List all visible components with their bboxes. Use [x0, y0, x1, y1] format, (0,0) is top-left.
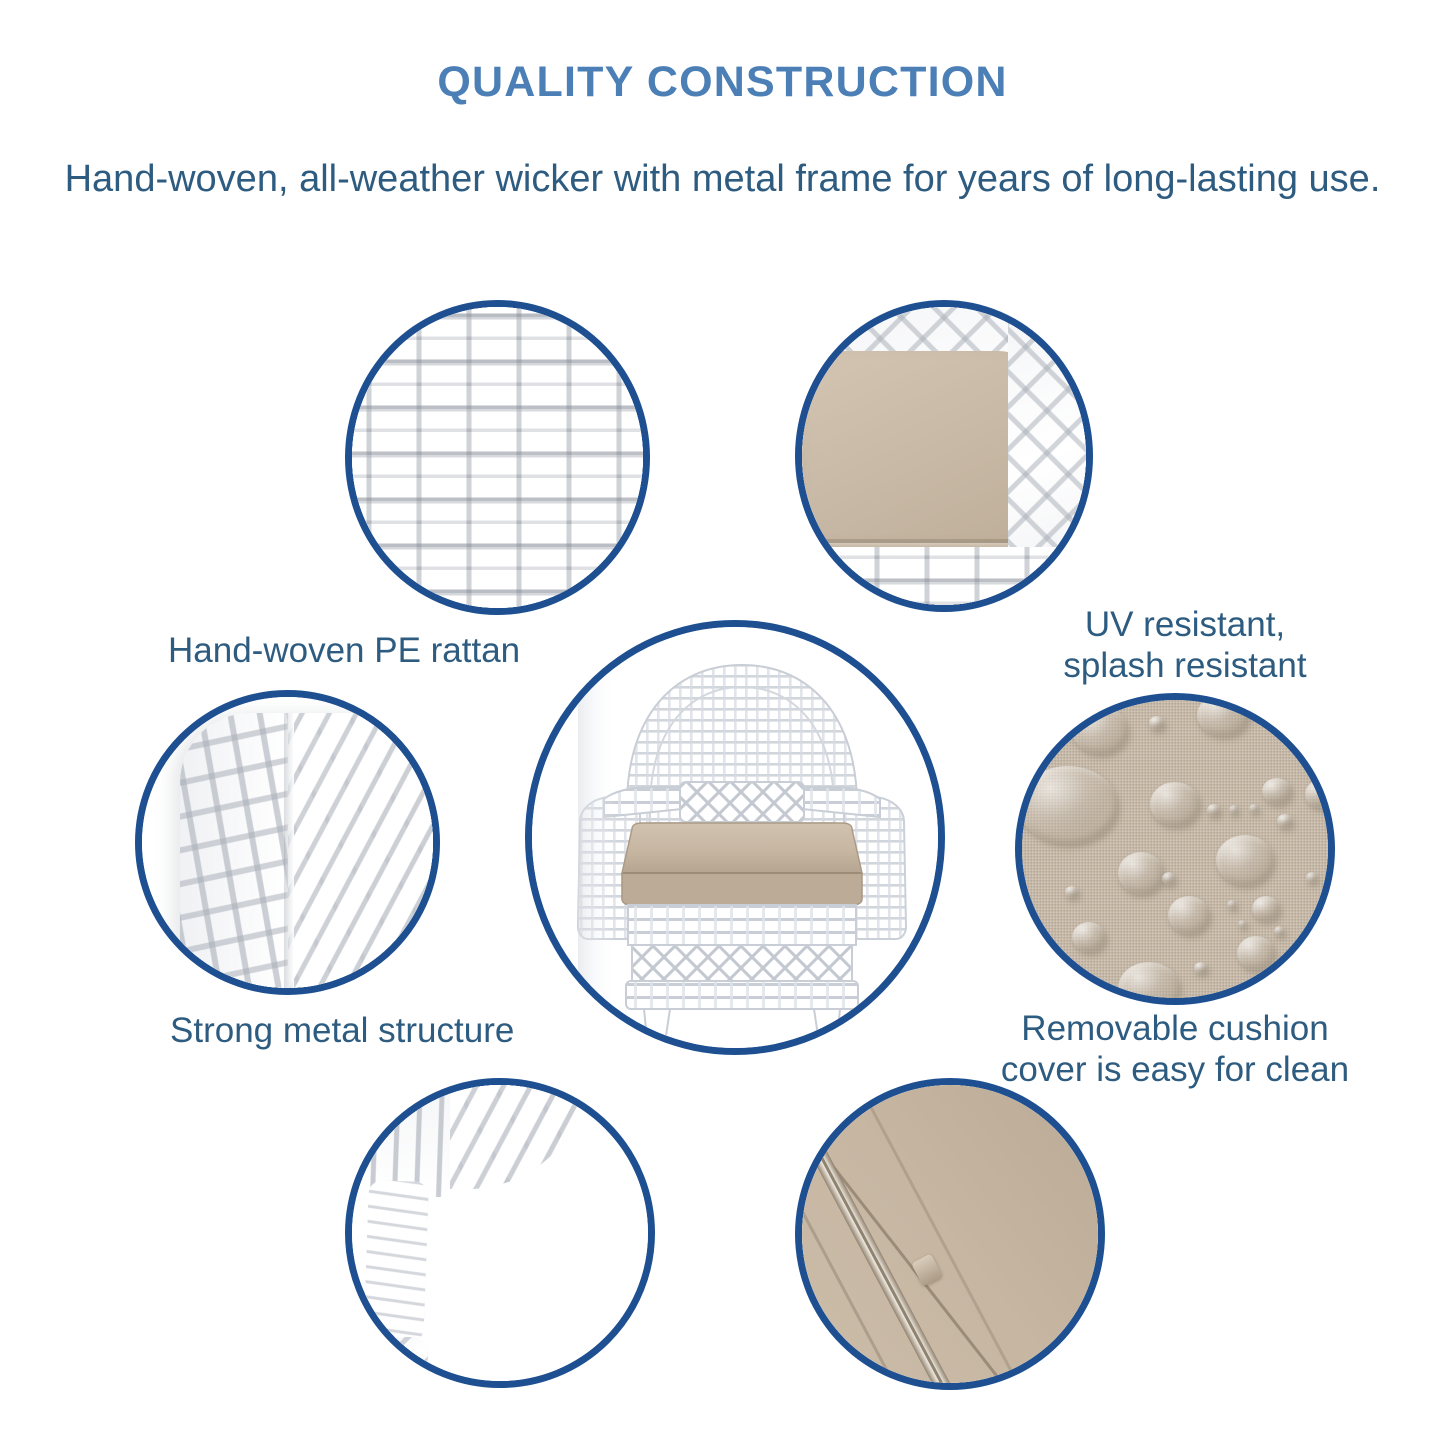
water-repellent-fabric [1015, 693, 1335, 1005]
caption-uv-splash-resistant: UV resistant, splash resistant [1030, 604, 1340, 687]
water-droplet [1018, 766, 1118, 844]
chair-back-corner [180, 713, 440, 995]
chair-leg-foot [366, 1337, 428, 1381]
water-droplet [1072, 706, 1128, 754]
detail-circle-cushion-zipper [795, 1078, 1105, 1390]
wicker-bottom-band [802, 547, 1086, 605]
water-droplet [1118, 852, 1164, 894]
caption-removable-cushion-cover: Removable cushion cover is easy for clea… [990, 1008, 1360, 1091]
water-droplet [1118, 962, 1180, 1005]
water-droplet [1207, 804, 1221, 816]
water-droplet [1277, 814, 1293, 828]
water-droplet [1065, 886, 1079, 898]
vertical-wicker-strands [345, 1078, 450, 1197]
page-subtitle: Hand-woven, all-weather wicker with meta… [0, 158, 1445, 201]
water-droplet [1149, 716, 1165, 730]
water-droplet [1305, 780, 1335, 808]
water-droplet [1249, 804, 1259, 813]
water-droplet [1197, 694, 1249, 736]
water-droplet [1229, 805, 1239, 814]
feature-circle-uv-splash-resistant [795, 300, 1093, 612]
water-droplet [1227, 900, 1237, 909]
infographic-page: QUALITY CONSTRUCTION Hand-woven, all-wea… [0, 0, 1445, 1445]
feature-circle-hand-woven-pe-rattan [345, 300, 650, 615]
water-droplet [1237, 936, 1275, 970]
water-droplet [1274, 926, 1285, 936]
chair-leg-coil [363, 1180, 429, 1352]
caption-strong-metal-structure: Strong metal structure [170, 1010, 590, 1051]
water-droplet [1072, 922, 1106, 952]
detail-circle-wicker-chair-leg [345, 1078, 655, 1388]
water-droplet [1194, 962, 1208, 974]
center-circle-white-wicker-chair [525, 620, 945, 1055]
lattice-face-left [180, 713, 288, 995]
cushion-body [795, 1078, 1105, 1390]
water-droplet [1252, 896, 1280, 921]
feature-circle-strong-metal-structure [135, 690, 440, 995]
water-droplet [1168, 896, 1210, 934]
water-droplet [1216, 835, 1274, 885]
water-droplet [1306, 872, 1318, 883]
caption-hand-woven-pe-rattan: Hand-woven PE rattan [168, 630, 568, 671]
water-droplet [1262, 778, 1292, 804]
water-droplet [1162, 872, 1176, 885]
water-droplet [1150, 782, 1200, 826]
feature-circle-removable-cushion-cover [1015, 693, 1335, 1005]
wicker-weave-texture [345, 300, 650, 615]
white-wicker-chair-illustration [532, 627, 945, 1055]
water-droplet [1238, 920, 1247, 928]
corner-edge-highlight [284, 713, 294, 995]
page-title: QUALITY CONSTRUCTION [0, 58, 1445, 107]
